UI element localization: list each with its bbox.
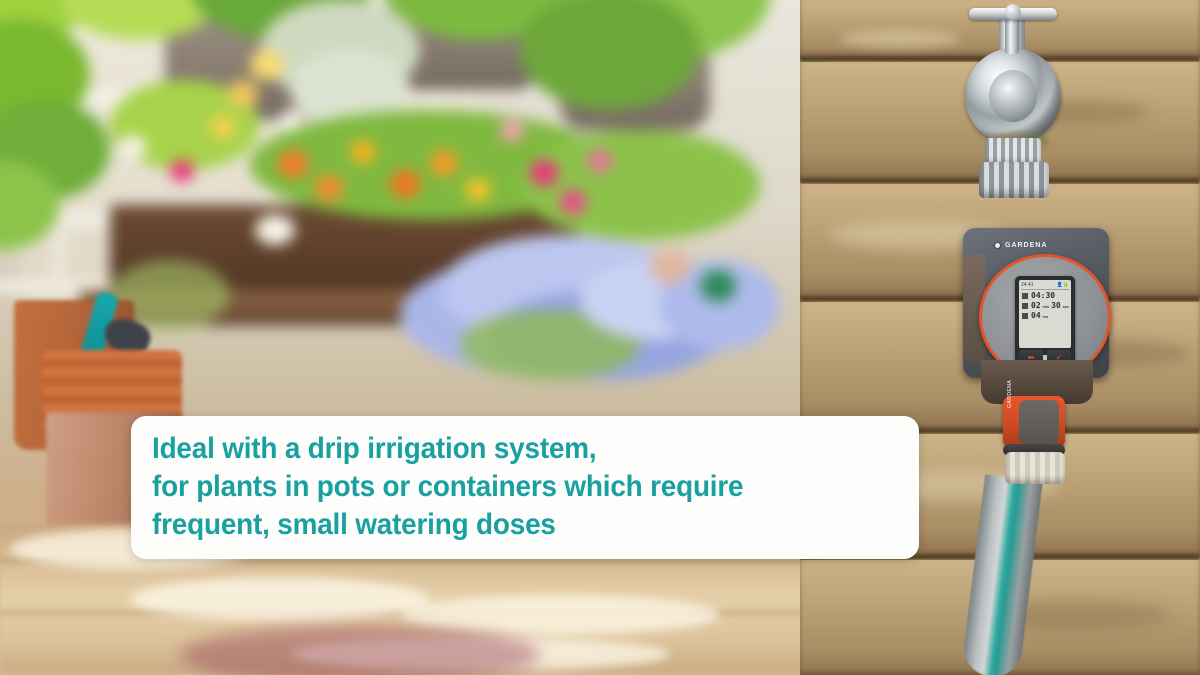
caption-card: Ideal with a drip irrigation system, for…	[131, 416, 919, 559]
lcd-clock-value: 24:41	[1021, 282, 1034, 288]
yellow-flower	[228, 80, 258, 108]
foliage-leaf	[700, 270, 736, 302]
white-flower	[255, 215, 295, 245]
clock-icon	[1021, 292, 1029, 300]
pink-flower	[530, 160, 558, 186]
tap-body-highlight	[989, 70, 1037, 122]
connector-brand-label: GARDENA	[1007, 380, 1013, 408]
gardena-logo: GARDENA	[993, 241, 1047, 250]
tap-connector-nut[interactable]	[979, 162, 1049, 198]
trailing-foliage	[520, 130, 760, 240]
lcd-row-duration: 02 min 30 sec	[1021, 302, 1069, 310]
white-flower	[280, 110, 302, 130]
duration-icon	[1021, 302, 1029, 310]
yellow-flower	[350, 140, 376, 164]
white-flower	[120, 135, 146, 159]
pink-flower	[560, 190, 586, 214]
sand-patch	[130, 577, 430, 621]
garden-background	[0, 0, 812, 675]
connector-grey-grip	[1019, 400, 1059, 444]
outdoor-tap[interactable]	[955, 0, 1075, 250]
lcd-duration-min-unit: min	[1043, 304, 1049, 309]
lcd-duration-min: 02	[1031, 302, 1041, 310]
tap-body	[965, 48, 1061, 144]
frequency-icon	[1021, 312, 1029, 320]
lcd-duration-sec: 30	[1051, 302, 1061, 310]
yellow-flower	[210, 115, 236, 139]
screenshot-scene: GARDENA 24:41 👤🔋 04:30 02 min	[0, 0, 1200, 675]
caption-line-3: frequent, small watering doses	[152, 506, 865, 544]
pink-flower	[588, 150, 612, 172]
gardena-mark-icon	[993, 241, 1002, 250]
gardena-water-timer[interactable]: GARDENA 24:41 👤🔋 04:30 02 min	[963, 228, 1109, 418]
pink-flower	[500, 120, 524, 142]
hose-threaded-nut[interactable]	[1005, 452, 1065, 484]
stone-grain	[840, 30, 960, 48]
orange-flower	[430, 150, 458, 176]
yellow-flower	[250, 50, 284, 80]
lcd-start-time: 04:30	[1031, 292, 1055, 300]
lcd-frequency: 04	[1031, 312, 1041, 320]
caption-line-2: for plants in pots or containers which r…	[152, 468, 865, 506]
orange-flower	[278, 150, 308, 178]
yellow-flower	[465, 178, 491, 202]
pink-flower	[170, 160, 194, 182]
tap-handle-knob	[1005, 4, 1021, 20]
orange-flower	[315, 175, 343, 201]
lcd-row-frequency: 04 hrs	[1021, 312, 1069, 320]
lcd-rows: 04:30 02 min 30 sec 04 hrs	[1021, 292, 1069, 320]
timer-lcd-display: 24:41 👤🔋 04:30 02 min 30 sec	[1019, 280, 1071, 348]
timer-screen-frame: 24:41 👤🔋 04:30 02 min 30 sec	[1015, 276, 1075, 368]
lcd-duration-sec-unit: sec	[1063, 304, 1069, 309]
orange-flower	[390, 170, 420, 198]
gardena-wordmark: GARDENA	[1005, 242, 1047, 249]
peach-flower	[650, 250, 690, 284]
lcd-row-start-time: 04:30	[1021, 292, 1069, 300]
caption-line-1: Ideal with a drip irrigation system,	[152, 430, 865, 468]
lcd-header: 24:41 👤🔋	[1021, 282, 1069, 290]
lcd-indicator-icons: 👤🔋	[1057, 282, 1069, 288]
lcd-frequency-unit: hrs	[1043, 314, 1049, 319]
